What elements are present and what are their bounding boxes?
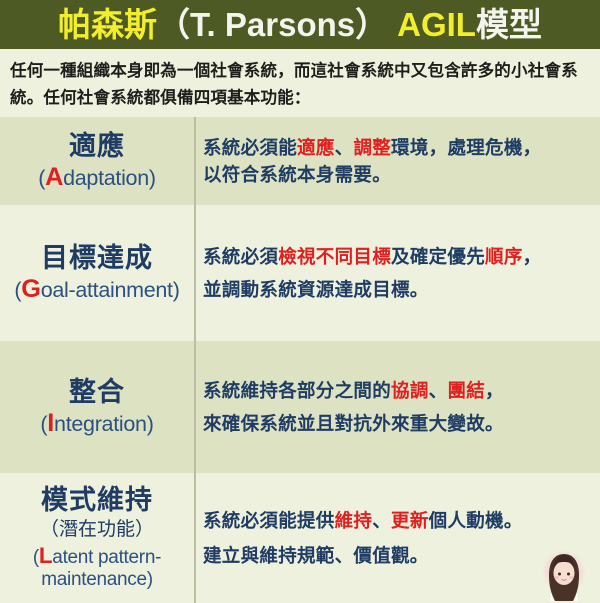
function-term-chinese: 模式維持 xyxy=(41,485,153,516)
highlighted-keyword: 調整 xyxy=(353,137,391,158)
description-line: 來確保系統並且對抗外來重大變故。 xyxy=(203,410,598,438)
highlighted-keyword: 團結 xyxy=(447,380,485,401)
header-title: 帕森斯 （T. Parsons） AGIL 模型 xyxy=(58,8,542,41)
table-row: 模式維持 （潛在功能） (Latent pattern-maintenance)… xyxy=(0,473,600,603)
function-term-english: (Latent pattern-maintenance) xyxy=(2,543,192,592)
function-term-rest: atent pattern-maintenance xyxy=(41,547,161,590)
function-term-chinese: 目標達成 xyxy=(41,243,153,274)
header-title-model: 模型 xyxy=(476,8,542,41)
function-term-chinese: 適應 xyxy=(69,131,125,162)
function-term-rest: oal-attainment xyxy=(41,278,173,302)
header-title-acronym: AGIL xyxy=(397,8,476,41)
function-label-cell: 適應 (Adaptation) xyxy=(0,117,196,205)
highlighted-keyword: 更新 xyxy=(391,510,429,531)
description-line: 以符合系統本身需要。 xyxy=(203,161,598,189)
agil-model-infographic: 帕森斯 （T. Parsons） AGIL 模型 任何一種組織本身即為一個社會系… xyxy=(0,0,600,600)
description-text: 、 xyxy=(372,510,391,531)
header-title-parenthetical: （T. Parsons） xyxy=(157,8,388,41)
header-title-chinese: 帕森斯 xyxy=(58,8,157,41)
function-label-cell: 目標達成 (Goal-attainment) xyxy=(0,205,196,341)
description-text: 個人動機。 xyxy=(429,510,523,531)
female-avatar-icon xyxy=(536,545,592,601)
paren-close: ) xyxy=(173,278,180,302)
description-text: 系統維持各部分之間的 xyxy=(203,380,391,401)
paren-close: ) xyxy=(147,569,153,590)
paren-close: ) xyxy=(147,412,154,436)
description-text: 環境，處理危機， xyxy=(391,137,541,158)
function-term-english: (Integration) xyxy=(40,409,153,438)
table-row: 適應 (Adaptation) 系統必須能適應、調整環境，處理危機，以符合系統本… xyxy=(0,117,600,205)
function-initial-letter: A xyxy=(45,163,63,191)
description-text: ， xyxy=(485,380,504,401)
description-text: 以符合系統本身需要。 xyxy=(203,164,391,185)
description-text: 系統必須能 xyxy=(203,137,297,158)
table-row: 整合 (Integration) 系統維持各部分之間的協調、團結，來確保系統並且… xyxy=(0,341,600,473)
function-term-subtitle: （潛在功能） xyxy=(40,519,154,542)
description-line: 系統必須能提供維持、更新個人動機。 xyxy=(203,507,598,535)
table-row: 目標達成 (Goal-attainment) 系統必須檢視不同目標及確定優先順序… xyxy=(0,205,600,341)
description-line: 系統必須檢視不同目標及確定優先順序， xyxy=(203,243,598,271)
functions-table: 適應 (Adaptation) 系統必須能適應、調整環境，處理危機，以符合系統本… xyxy=(0,117,600,603)
description-text: 、 xyxy=(429,380,448,401)
function-term-rest: daptation xyxy=(63,166,149,190)
function-label-cell: 模式維持 （潛在功能） (Latent pattern-maintenance) xyxy=(0,473,196,603)
description-text: 系統必須能提供 xyxy=(203,510,335,531)
description-text: 來確保系統並且對抗外來重大變故。 xyxy=(203,413,504,434)
description-line: 系統維持各部分之間的協調、團結， xyxy=(203,377,598,405)
highlighted-keyword: 適應 xyxy=(297,137,335,158)
description-text: 並調動系統資源達成目標。 xyxy=(203,279,429,300)
description-line: 並調動系統資源達成目標。 xyxy=(203,276,598,304)
description-text: 系統必須 xyxy=(203,246,278,267)
paren-close: ) xyxy=(149,166,156,190)
description-line: 系統必須能適應、調整環境，處理危機， xyxy=(203,134,598,162)
highlighted-keyword: 檢視不同目標 xyxy=(278,246,391,267)
function-initial-letter: G xyxy=(21,275,40,303)
function-term-chinese: 整合 xyxy=(69,377,125,408)
description-text: 建立與維持規範、價值觀。 xyxy=(203,545,429,566)
function-term-english: (Goal-attainment) xyxy=(14,275,179,304)
description-text: 及確定優先 xyxy=(391,246,485,267)
function-description-cell: 系統必須檢視不同目標及確定優先順序，並調動系統資源達成目標。 xyxy=(196,205,600,341)
description-text: ， xyxy=(523,246,542,267)
description-text: 、 xyxy=(335,137,354,158)
highlighted-keyword: 維持 xyxy=(335,510,373,531)
intro-paragraph: 任何一種組織本身即為一個社會系統，而這社會系統中又包含許多的小社會系統。任何社會… xyxy=(0,49,600,117)
highlighted-keyword: 協調 xyxy=(391,380,429,401)
function-initial-letter: L xyxy=(39,543,52,568)
function-description-cell: 系統維持各部分之間的協調、團結，來確保系統並且對抗外來重大變故。 xyxy=(196,341,600,473)
function-term-english: (Adaptation) xyxy=(38,163,156,192)
header-banner: 帕森斯 （T. Parsons） AGIL 模型 xyxy=(0,0,600,49)
highlighted-keyword: 順序 xyxy=(485,246,523,267)
function-label-cell: 整合 (Integration) xyxy=(0,341,196,473)
function-term-rest: ntegration xyxy=(54,412,147,436)
function-description-cell: 系統必須能適應、調整環境，處理危機，以符合系統本身需要。 xyxy=(196,117,600,205)
avatar xyxy=(536,545,592,601)
